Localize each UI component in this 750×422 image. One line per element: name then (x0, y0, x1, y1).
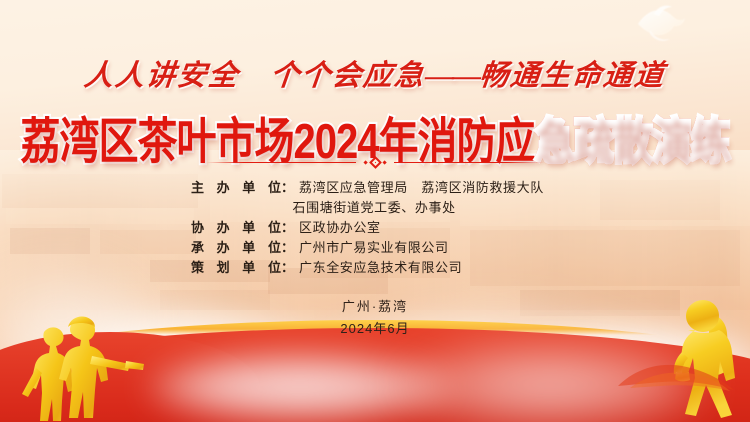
divider (0, 158, 750, 167)
organizer-row: 承办单位 ： 广州市广易实业有限公司 (0, 238, 750, 258)
slogan-part-3: 畅通生命通道 (478, 60, 667, 92)
organizer-colon: ： (281, 258, 294, 278)
organizers-list: 主办单位 ： 荔湾区应急管理局 荔湾区消防救援大队 石围塘街道党工委、办事处 协… (0, 178, 750, 278)
organizer-value: 广州市广易实业有限公司 (299, 238, 559, 258)
organizer-label: 协办单位 (191, 218, 281, 238)
organizer-colon: ： (281, 178, 294, 198)
footer-date: 2024年6月 (0, 318, 750, 337)
organizer-value: 荔湾区应急管理局 荔湾区消防救援大队 (299, 178, 559, 198)
slogan-part-2: 个个会应急 (269, 60, 427, 92)
divider-line-left (206, 162, 356, 164)
dove-icon (632, 4, 686, 44)
poster-slogan: 人人讲安全 个个会应急——畅通生命通道 (0, 52, 750, 94)
organizer-colon: ： (281, 218, 294, 238)
diamond-ornament-icon (364, 158, 385, 167)
organizer-row: 协办单位 ： 区政协办公室 (0, 218, 750, 238)
slogan-part-1: 人人讲安全 (82, 60, 240, 92)
organizer-label: 承办单位 (191, 238, 281, 258)
organizer-value: 石围塘街道党工委、办事处 (293, 198, 553, 218)
flame-decor-icon (616, 346, 736, 394)
organizer-value: 广东全安应急技术有限公司 (299, 258, 559, 278)
poster-canvas: 人人讲安全 个个会应急——畅通生命通道 荔湾区茶叶市场2024年消防应急疏散演练… (0, 0, 750, 422)
organizer-row: 策划单位 ： 广东全安应急技术有限公司 (0, 258, 750, 278)
organizer-label: 策划单位 (191, 258, 281, 278)
organizer-row: 主办单位 ： 荔湾区应急管理局 荔湾区消防救援大队 (0, 178, 750, 198)
organizer-label: 主办单位 (191, 178, 281, 198)
footer-place: 广州·荔湾 (0, 296, 750, 315)
organizer-value: 区政协办公室 (299, 218, 559, 238)
organizer-row: 石围塘街道党工委、办事处 (0, 198, 750, 218)
divider-line-right (394, 162, 544, 164)
organizer-colon: ： (281, 238, 294, 258)
slogan-gap (237, 60, 271, 92)
slogan-dash: —— (424, 60, 481, 92)
organizer-label (198, 198, 288, 218)
